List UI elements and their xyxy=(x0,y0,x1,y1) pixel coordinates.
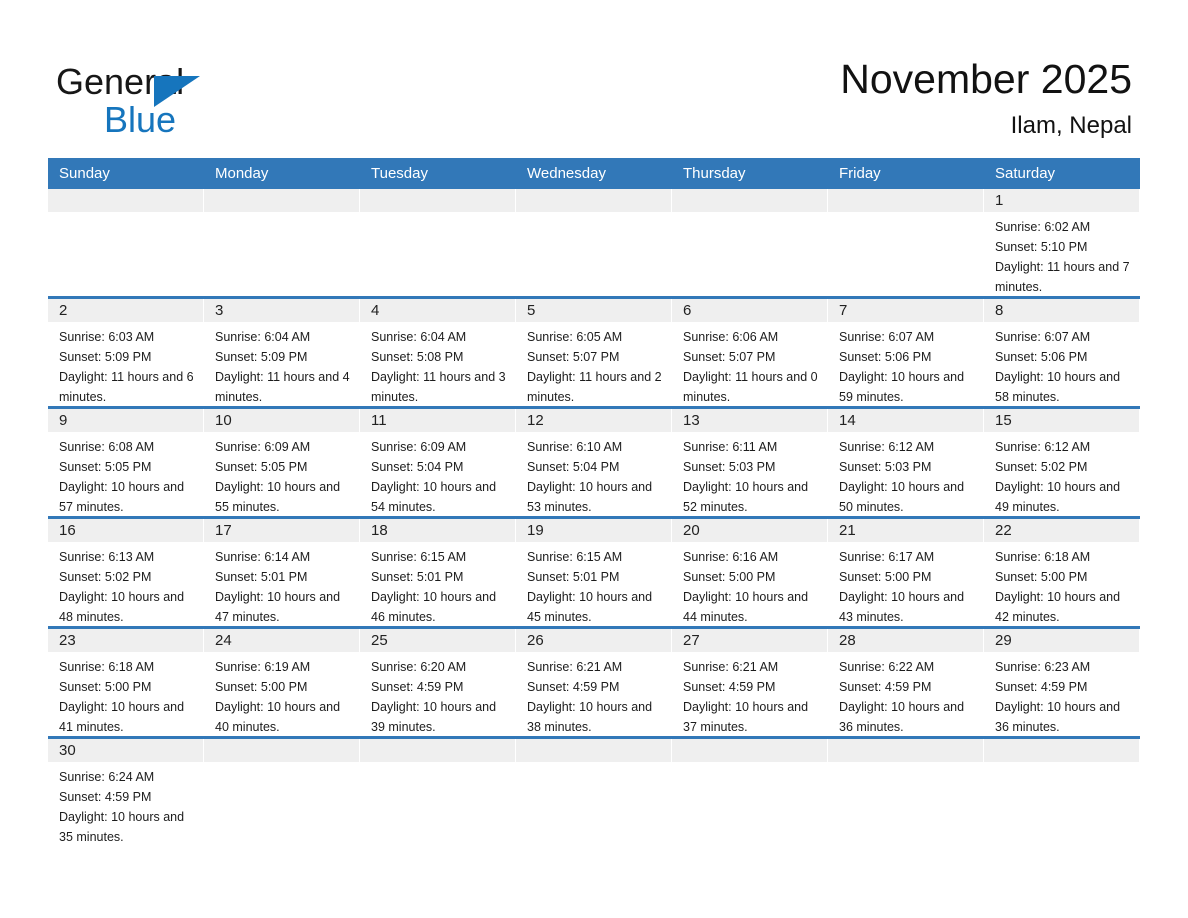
daylight-text: Daylight: 10 hours and 39 minutes. xyxy=(371,697,509,737)
day-cell-13[interactable]: 13Sunrise: 6:11 AMSunset: 5:03 PMDayligh… xyxy=(672,409,828,516)
calendar-week-row: 30Sunrise: 6:24 AMSunset: 4:59 PMDayligh… xyxy=(48,736,1140,854)
sunrise-text: Sunrise: 6:19 AM xyxy=(215,657,353,677)
sunset-text: Sunset: 5:03 PM xyxy=(839,457,977,477)
day-cell-26[interactable]: 26Sunrise: 6:21 AMSunset: 4:59 PMDayligh… xyxy=(516,629,672,736)
day-number: 18 xyxy=(360,519,515,542)
sunset-text: Sunset: 5:02 PM xyxy=(59,567,197,587)
day-number: 6 xyxy=(672,299,827,322)
day-cell-15[interactable]: 15Sunrise: 6:12 AMSunset: 5:02 PMDayligh… xyxy=(984,409,1140,516)
day-number: 24 xyxy=(204,629,359,652)
daylight-text: Daylight: 10 hours and 41 minutes. xyxy=(59,697,197,737)
sunrise-text: Sunrise: 6:07 AM xyxy=(995,327,1133,347)
day-sun-info: Sunrise: 6:09 AMSunset: 5:05 PMDaylight:… xyxy=(204,432,359,517)
day-sun-info: Sunrise: 6:05 AMSunset: 5:07 PMDaylight:… xyxy=(516,322,671,407)
day-cell-25[interactable]: 25Sunrise: 6:20 AMSunset: 4:59 PMDayligh… xyxy=(360,629,516,736)
sunset-text: Sunset: 5:05 PM xyxy=(59,457,197,477)
day-number xyxy=(672,189,827,212)
daylight-text: Daylight: 10 hours and 45 minutes. xyxy=(527,587,665,627)
day-number xyxy=(204,739,359,762)
day-cell-empty xyxy=(672,739,828,854)
day-sun-info: Sunrise: 6:12 AMSunset: 5:02 PMDaylight:… xyxy=(984,432,1139,517)
day-number: 7 xyxy=(828,299,983,322)
day-cell-empty xyxy=(828,189,984,296)
sunset-text: Sunset: 5:09 PM xyxy=(215,347,353,367)
day-number: 29 xyxy=(984,629,1139,652)
sunrise-text: Sunrise: 6:18 AM xyxy=(59,657,197,677)
title-block: November 2025 Ilam, Nepal xyxy=(840,54,1132,142)
sunrise-text: Sunrise: 6:02 AM xyxy=(995,217,1133,237)
day-number: 17 xyxy=(204,519,359,542)
day-number: 8 xyxy=(984,299,1139,322)
daylight-text: Daylight: 10 hours and 46 minutes. xyxy=(371,587,509,627)
day-cell-empty xyxy=(360,189,516,296)
day-sun-info: Sunrise: 6:04 AMSunset: 5:08 PMDaylight:… xyxy=(360,322,515,407)
sunrise-text: Sunrise: 6:08 AM xyxy=(59,437,197,457)
day-cell-7[interactable]: 7Sunrise: 6:07 AMSunset: 5:06 PMDaylight… xyxy=(828,299,984,406)
day-cell-empty xyxy=(204,189,360,296)
calendar-grid: SundayMondayTuesdayWednesdayThursdayFrid… xyxy=(48,158,1140,854)
daylight-text: Daylight: 10 hours and 57 minutes. xyxy=(59,477,197,517)
sunset-text: Sunset: 4:59 PM xyxy=(527,677,665,697)
day-sun-info: Sunrise: 6:15 AMSunset: 5:01 PMDaylight:… xyxy=(360,542,515,627)
day-cell-11[interactable]: 11Sunrise: 6:09 AMSunset: 5:04 PMDayligh… xyxy=(360,409,516,516)
daylight-text: Daylight: 10 hours and 48 minutes. xyxy=(59,587,197,627)
page-header: General Blue November 2025 Ilam, Nepal xyxy=(0,0,1188,158)
day-cell-empty xyxy=(516,189,672,296)
day-sun-info: Sunrise: 6:19 AMSunset: 5:00 PMDaylight:… xyxy=(204,652,359,737)
calendar-page: General Blue November 2025 Ilam, Nepal S… xyxy=(0,0,1188,918)
sunset-text: Sunset: 5:09 PM xyxy=(59,347,197,367)
daylight-text: Daylight: 10 hours and 44 minutes. xyxy=(683,587,821,627)
sunset-text: Sunset: 5:05 PM xyxy=(215,457,353,477)
location-subtitle: Ilam, Nepal xyxy=(840,110,1132,142)
weekday-header-monday: Monday xyxy=(204,158,360,189)
sunset-text: Sunset: 5:01 PM xyxy=(527,567,665,587)
day-number xyxy=(360,189,515,212)
day-cell-1[interactable]: 1Sunrise: 6:02 AMSunset: 5:10 PMDaylight… xyxy=(984,189,1140,296)
sunset-text: Sunset: 5:00 PM xyxy=(59,677,197,697)
day-sun-info: Sunrise: 6:11 AMSunset: 5:03 PMDaylight:… xyxy=(672,432,827,517)
day-sun-info: Sunrise: 6:15 AMSunset: 5:01 PMDaylight:… xyxy=(516,542,671,627)
sunrise-text: Sunrise: 6:23 AM xyxy=(995,657,1133,677)
day-number xyxy=(48,189,203,212)
sunrise-text: Sunrise: 6:14 AM xyxy=(215,547,353,567)
weekday-header-thursday: Thursday xyxy=(672,158,828,189)
sunset-text: Sunset: 5:07 PM xyxy=(683,347,821,367)
day-cell-empty xyxy=(360,739,516,854)
sunset-text: Sunset: 5:10 PM xyxy=(995,237,1133,257)
daylight-text: Daylight: 10 hours and 59 minutes. xyxy=(839,367,977,407)
day-number xyxy=(672,739,827,762)
day-number: 22 xyxy=(984,519,1139,542)
day-sun-info: Sunrise: 6:04 AMSunset: 5:09 PMDaylight:… xyxy=(204,322,359,407)
day-cell-5[interactable]: 5Sunrise: 6:05 AMSunset: 5:07 PMDaylight… xyxy=(516,299,672,406)
daylight-text: Daylight: 10 hours and 42 minutes. xyxy=(995,587,1133,627)
day-cell-8[interactable]: 8Sunrise: 6:07 AMSunset: 5:06 PMDaylight… xyxy=(984,299,1140,406)
daylight-text: Daylight: 10 hours and 54 minutes. xyxy=(371,477,509,517)
weekday-header-row: SundayMondayTuesdayWednesdayThursdayFrid… xyxy=(48,158,1140,189)
day-cell-empty xyxy=(48,189,204,296)
day-cell-empty xyxy=(204,739,360,854)
day-number: 27 xyxy=(672,629,827,652)
sunset-text: Sunset: 5:00 PM xyxy=(683,567,821,587)
daylight-text: Daylight: 11 hours and 2 minutes. xyxy=(527,367,665,407)
sunrise-text: Sunrise: 6:17 AM xyxy=(839,547,977,567)
sunset-text: Sunset: 5:06 PM xyxy=(839,347,977,367)
daylight-text: Daylight: 10 hours and 50 minutes. xyxy=(839,477,977,517)
day-sun-info: Sunrise: 6:22 AMSunset: 4:59 PMDaylight:… xyxy=(828,652,983,737)
day-number: 12 xyxy=(516,409,671,432)
sunrise-text: Sunrise: 6:18 AM xyxy=(995,547,1133,567)
day-sun-info: Sunrise: 6:14 AMSunset: 5:01 PMDaylight:… xyxy=(204,542,359,627)
sunset-text: Sunset: 4:59 PM xyxy=(683,677,821,697)
sunrise-text: Sunrise: 6:12 AM xyxy=(839,437,977,457)
day-number: 26 xyxy=(516,629,671,652)
page-title: November 2025 xyxy=(840,54,1132,104)
day-cell-30[interactable]: 30Sunrise: 6:24 AMSunset: 4:59 PMDayligh… xyxy=(48,739,204,854)
sunrise-text: Sunrise: 6:07 AM xyxy=(839,327,977,347)
day-sun-info: Sunrise: 6:09 AMSunset: 5:04 PMDaylight:… xyxy=(360,432,515,517)
sunrise-text: Sunrise: 6:21 AM xyxy=(683,657,821,677)
day-number: 28 xyxy=(828,629,983,652)
sunset-text: Sunset: 4:59 PM xyxy=(995,677,1133,697)
sunrise-text: Sunrise: 6:09 AM xyxy=(371,437,509,457)
calendar-week-row: 16Sunrise: 6:13 AMSunset: 5:02 PMDayligh… xyxy=(48,516,1140,626)
daylight-text: Daylight: 10 hours and 40 minutes. xyxy=(215,697,353,737)
day-cell-29[interactable]: 29Sunrise: 6:23 AMSunset: 4:59 PMDayligh… xyxy=(984,629,1140,736)
day-cell-21[interactable]: 21Sunrise: 6:17 AMSunset: 5:00 PMDayligh… xyxy=(828,519,984,626)
day-cell-28[interactable]: 28Sunrise: 6:22 AMSunset: 4:59 PMDayligh… xyxy=(828,629,984,736)
sunset-text: Sunset: 5:04 PM xyxy=(527,457,665,477)
daylight-text: Daylight: 11 hours and 6 minutes. xyxy=(59,367,197,407)
daylight-text: Daylight: 10 hours and 58 minutes. xyxy=(995,367,1133,407)
daylight-text: Daylight: 10 hours and 49 minutes. xyxy=(995,477,1133,517)
sunrise-text: Sunrise: 6:21 AM xyxy=(527,657,665,677)
day-sun-info: Sunrise: 6:13 AMSunset: 5:02 PMDaylight:… xyxy=(48,542,203,627)
daylight-text: Daylight: 10 hours and 52 minutes. xyxy=(683,477,821,517)
general-blue-logo: General Blue xyxy=(56,62,356,142)
daylight-text: Daylight: 10 hours and 47 minutes. xyxy=(215,587,353,627)
day-sun-info: Sunrise: 6:18 AMSunset: 5:00 PMDaylight:… xyxy=(984,542,1139,627)
day-number xyxy=(360,739,515,762)
daylight-text: Daylight: 10 hours and 37 minutes. xyxy=(683,697,821,737)
day-number xyxy=(516,739,671,762)
day-cell-12[interactable]: 12Sunrise: 6:10 AMSunset: 5:04 PMDayligh… xyxy=(516,409,672,516)
calendar-week-row: 2Sunrise: 6:03 AMSunset: 5:09 PMDaylight… xyxy=(48,296,1140,406)
day-sun-info: Sunrise: 6:08 AMSunset: 5:05 PMDaylight:… xyxy=(48,432,203,517)
daylight-text: Daylight: 11 hours and 0 minutes. xyxy=(683,367,821,407)
daylight-text: Daylight: 10 hours and 43 minutes. xyxy=(839,587,977,627)
day-cell-empty xyxy=(516,739,672,854)
day-number: 30 xyxy=(48,739,203,762)
day-sun-info: Sunrise: 6:07 AMSunset: 5:06 PMDaylight:… xyxy=(984,322,1139,407)
day-cell-9[interactable]: 9Sunrise: 6:08 AMSunset: 5:05 PMDaylight… xyxy=(48,409,204,516)
day-cell-3[interactable]: 3Sunrise: 6:04 AMSunset: 5:09 PMDaylight… xyxy=(204,299,360,406)
sunrise-text: Sunrise: 6:11 AM xyxy=(683,437,821,457)
sunrise-text: Sunrise: 6:24 AM xyxy=(59,767,197,787)
day-cell-10[interactable]: 10Sunrise: 6:09 AMSunset: 5:05 PMDayligh… xyxy=(204,409,360,516)
day-sun-info: Sunrise: 6:16 AMSunset: 5:00 PMDaylight:… xyxy=(672,542,827,627)
logo-text-blue: Blue xyxy=(104,100,176,140)
day-number xyxy=(984,739,1139,762)
sunrise-text: Sunrise: 6:06 AM xyxy=(683,327,821,347)
day-number: 14 xyxy=(828,409,983,432)
daylight-text: Daylight: 10 hours and 35 minutes. xyxy=(59,807,197,847)
day-cell-empty xyxy=(828,739,984,854)
day-sun-info: Sunrise: 6:17 AMSunset: 5:00 PMDaylight:… xyxy=(828,542,983,627)
sunrise-text: Sunrise: 6:05 AM xyxy=(527,327,665,347)
day-cell-27[interactable]: 27Sunrise: 6:21 AMSunset: 4:59 PMDayligh… xyxy=(672,629,828,736)
day-number xyxy=(828,189,983,212)
day-sun-info: Sunrise: 6:03 AMSunset: 5:09 PMDaylight:… xyxy=(48,322,203,407)
day-number: 2 xyxy=(48,299,203,322)
sunrise-text: Sunrise: 6:15 AM xyxy=(371,547,509,567)
sunrise-text: Sunrise: 6:04 AM xyxy=(215,327,353,347)
day-number xyxy=(828,739,983,762)
day-sun-info: Sunrise: 6:21 AMSunset: 4:59 PMDaylight:… xyxy=(672,652,827,737)
sunrise-text: Sunrise: 6:10 AM xyxy=(527,437,665,457)
day-number: 16 xyxy=(48,519,203,542)
day-cell-6[interactable]: 6Sunrise: 6:06 AMSunset: 5:07 PMDaylight… xyxy=(672,299,828,406)
day-cell-17[interactable]: 17Sunrise: 6:14 AMSunset: 5:01 PMDayligh… xyxy=(204,519,360,626)
day-number: 3 xyxy=(204,299,359,322)
sunset-text: Sunset: 4:59 PM xyxy=(59,787,197,807)
calendar-week-row: 1Sunrise: 6:02 AMSunset: 5:10 PMDaylight… xyxy=(48,189,1140,296)
day-cell-18[interactable]: 18Sunrise: 6:15 AMSunset: 5:01 PMDayligh… xyxy=(360,519,516,626)
sunrise-text: Sunrise: 6:13 AM xyxy=(59,547,197,567)
day-cell-14[interactable]: 14Sunrise: 6:12 AMSunset: 5:03 PMDayligh… xyxy=(828,409,984,516)
day-sun-info: Sunrise: 6:12 AMSunset: 5:03 PMDaylight:… xyxy=(828,432,983,517)
sunset-text: Sunset: 5:08 PM xyxy=(371,347,509,367)
day-number: 19 xyxy=(516,519,671,542)
sunset-text: Sunset: 5:04 PM xyxy=(371,457,509,477)
day-number: 23 xyxy=(48,629,203,652)
sunset-text: Sunset: 5:02 PM xyxy=(995,457,1133,477)
daylight-text: Daylight: 10 hours and 55 minutes. xyxy=(215,477,353,517)
day-sun-info: Sunrise: 6:18 AMSunset: 5:00 PMDaylight:… xyxy=(48,652,203,737)
sunset-text: Sunset: 5:00 PM xyxy=(215,677,353,697)
day-cell-23[interactable]: 23Sunrise: 6:18 AMSunset: 5:00 PMDayligh… xyxy=(48,629,204,736)
sunset-text: Sunset: 5:01 PM xyxy=(371,567,509,587)
day-sun-info: Sunrise: 6:21 AMSunset: 4:59 PMDaylight:… xyxy=(516,652,671,737)
day-cell-20[interactable]: 20Sunrise: 6:16 AMSunset: 5:00 PMDayligh… xyxy=(672,519,828,626)
day-sun-info: Sunrise: 6:24 AMSunset: 4:59 PMDaylight:… xyxy=(48,762,203,847)
day-cell-22[interactable]: 22Sunrise: 6:18 AMSunset: 5:00 PMDayligh… xyxy=(984,519,1140,626)
weekday-header-saturday: Saturday xyxy=(984,158,1140,189)
calendar-week-row: 9Sunrise: 6:08 AMSunset: 5:05 PMDaylight… xyxy=(48,406,1140,516)
daylight-text: Daylight: 10 hours and 38 minutes. xyxy=(527,697,665,737)
day-number: 20 xyxy=(672,519,827,542)
sunrise-text: Sunrise: 6:04 AM xyxy=(371,327,509,347)
weekday-header-sunday: Sunday xyxy=(48,158,204,189)
day-number: 5 xyxy=(516,299,671,322)
day-cell-empty xyxy=(672,189,828,296)
sunset-text: Sunset: 5:00 PM xyxy=(995,567,1133,587)
day-number xyxy=(204,189,359,212)
sunrise-text: Sunrise: 6:03 AM xyxy=(59,327,197,347)
sunrise-text: Sunrise: 6:20 AM xyxy=(371,657,509,677)
day-number: 25 xyxy=(360,629,515,652)
sunset-text: Sunset: 5:06 PM xyxy=(995,347,1133,367)
sunset-text: Sunset: 5:07 PM xyxy=(527,347,665,367)
sunset-text: Sunset: 4:59 PM xyxy=(371,677,509,697)
day-sun-info: Sunrise: 6:10 AMSunset: 5:04 PMDaylight:… xyxy=(516,432,671,517)
day-cell-24[interactable]: 24Sunrise: 6:19 AMSunset: 5:00 PMDayligh… xyxy=(204,629,360,736)
day-number: 21 xyxy=(828,519,983,542)
sunrise-text: Sunrise: 6:09 AM xyxy=(215,437,353,457)
day-sun-info: Sunrise: 6:23 AMSunset: 4:59 PMDaylight:… xyxy=(984,652,1139,737)
day-number: 4 xyxy=(360,299,515,322)
day-sun-info: Sunrise: 6:20 AMSunset: 4:59 PMDaylight:… xyxy=(360,652,515,737)
sunset-text: Sunset: 5:01 PM xyxy=(215,567,353,587)
day-number: 15 xyxy=(984,409,1139,432)
daylight-text: Daylight: 11 hours and 7 minutes. xyxy=(995,257,1133,297)
calendar-week-row: 23Sunrise: 6:18 AMSunset: 5:00 PMDayligh… xyxy=(48,626,1140,736)
day-number: 1 xyxy=(984,189,1139,212)
day-cell-2[interactable]: 2Sunrise: 6:03 AMSunset: 5:09 PMDaylight… xyxy=(48,299,204,406)
day-number xyxy=(516,189,671,212)
calendar-weeks: 1Sunrise: 6:02 AMSunset: 5:10 PMDaylight… xyxy=(48,189,1140,854)
weekday-header-tuesday: Tuesday xyxy=(360,158,516,189)
day-number: 13 xyxy=(672,409,827,432)
day-cell-4[interactable]: 4Sunrise: 6:04 AMSunset: 5:08 PMDaylight… xyxy=(360,299,516,406)
sunset-text: Sunset: 5:00 PM xyxy=(839,567,977,587)
sunrise-text: Sunrise: 6:16 AM xyxy=(683,547,821,567)
day-sun-info: Sunrise: 6:07 AMSunset: 5:06 PMDaylight:… xyxy=(828,322,983,407)
sunrise-text: Sunrise: 6:12 AM xyxy=(995,437,1133,457)
day-cell-empty xyxy=(984,739,1140,854)
sunset-text: Sunset: 5:03 PM xyxy=(683,457,821,477)
day-number: 9 xyxy=(48,409,203,432)
daylight-text: Daylight: 10 hours and 36 minutes. xyxy=(995,697,1133,737)
weekday-header-wednesday: Wednesday xyxy=(516,158,672,189)
day-number: 10 xyxy=(204,409,359,432)
daylight-text: Daylight: 10 hours and 36 minutes. xyxy=(839,697,977,737)
day-sun-info: Sunrise: 6:02 AMSunset: 5:10 PMDaylight:… xyxy=(984,212,1139,297)
day-number: 11 xyxy=(360,409,515,432)
daylight-text: Daylight: 11 hours and 3 minutes. xyxy=(371,367,509,407)
day-cell-19[interactable]: 19Sunrise: 6:15 AMSunset: 5:01 PMDayligh… xyxy=(516,519,672,626)
daylight-text: Daylight: 10 hours and 53 minutes. xyxy=(527,477,665,517)
day-sun-info: Sunrise: 6:06 AMSunset: 5:07 PMDaylight:… xyxy=(672,322,827,407)
sunrise-text: Sunrise: 6:15 AM xyxy=(527,547,665,567)
sunrise-text: Sunrise: 6:22 AM xyxy=(839,657,977,677)
weekday-header-friday: Friday xyxy=(828,158,984,189)
day-cell-16[interactable]: 16Sunrise: 6:13 AMSunset: 5:02 PMDayligh… xyxy=(48,519,204,626)
daylight-text: Daylight: 11 hours and 4 minutes. xyxy=(215,367,353,407)
sunset-text: Sunset: 4:59 PM xyxy=(839,677,977,697)
